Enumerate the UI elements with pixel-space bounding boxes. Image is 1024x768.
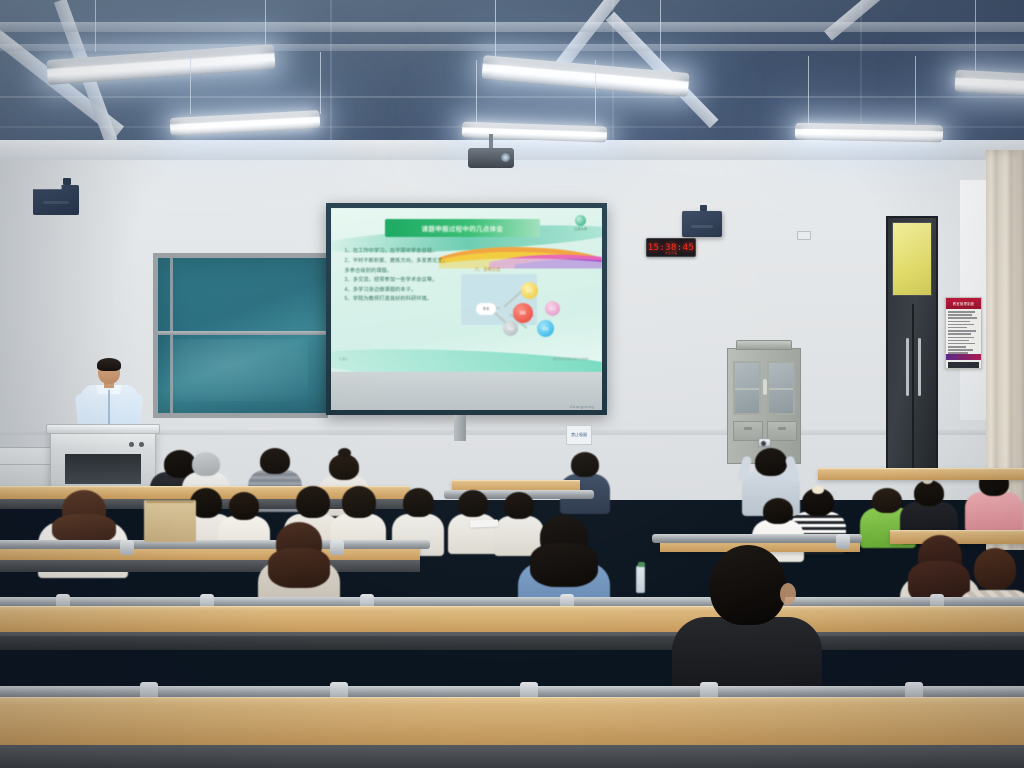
podium-control-knob[interactable] — [129, 442, 134, 447]
podium-control-knob[interactable] — [139, 442, 144, 447]
slide-body-text: 1、在工作中学习，在平常中学会总结， 2、平时不断积累、磨炼方向，多发表论文， … — [345, 247, 459, 305]
water-bottle — [636, 565, 645, 593]
notice-board-title: 教室管理制度 — [953, 301, 975, 306]
desk-row-4 — [0, 697, 1024, 745]
slide-content: 课题申报过程中的几点体会 江苏大学 1、在工作中学习，在平常中学会总结， 2 — [331, 208, 602, 372]
desk-front-panel — [0, 560, 420, 572]
desk-rail-clip — [120, 540, 134, 555]
diagram-node-center-red: 课题 — [513, 303, 533, 323]
notice-board: 教室管理制度 — [945, 297, 982, 369]
slide-title-banner: 课题申报过程中的几点体会 — [385, 219, 539, 237]
diagram-node-pink: 论文 — [545, 301, 560, 316]
wall-sign: 禁止吸烟 — [566, 425, 592, 445]
notice-board-accent — [946, 354, 981, 360]
notice-board-plate — [948, 362, 979, 368]
desk-front-panel-row4 — [0, 745, 1024, 768]
node-label: 项目 — [542, 326, 548, 331]
slide-bullet: 4、多学习身边做课题的本子。 — [345, 286, 459, 296]
slide-footer: 汇报人 课题申报过程中的几点体会 — [331, 357, 602, 367]
slide-footer-right: 课题申报过程中的几点体会 — [552, 357, 588, 361]
ceiling-beam-horizontal — [0, 22, 1024, 32]
door-handle-right[interactable] — [918, 338, 921, 396]
node-label: 课题 — [519, 310, 525, 315]
cabinet-glass-door-left[interactable] — [733, 361, 761, 415]
diagram-node-blue: 项目 — [537, 320, 554, 337]
led-clock-subtext: 欢迎光临 — [647, 251, 695, 255]
handout-paper — [470, 520, 498, 528]
cabinet-drawer-right[interactable] — [767, 421, 797, 441]
ceiling-light-6 — [795, 123, 943, 143]
slide-logo-caption: 江苏大学 — [568, 227, 594, 231]
projector-lens-icon — [501, 153, 510, 162]
podium-surface — [46, 424, 160, 434]
projection-screen[interactable]: 课题申报过程中的几点体会 江苏大学 1、在工作中学习，在平常中学会总结， 2 — [326, 203, 607, 415]
diagram-node-yellow: 交流 — [521, 282, 538, 299]
blackboard — [153, 253, 328, 418]
screen-brand-label: Changhong — [570, 404, 594, 409]
slide-bullet: 5、学院为教师打造良好的科研环境。 — [345, 295, 459, 305]
slide-bullet: 3、多交流，经常参加一些学术会议等。 — [345, 276, 459, 286]
speaker-left — [33, 185, 79, 215]
classroom-scene: 课题申报过程中的几点体会 江苏大学 1、在工作中学习，在平常中学会总结， 2 — [0, 0, 1024, 768]
projector — [468, 148, 514, 168]
slide-bullet: 多参合级别的课题。 — [345, 267, 459, 277]
attendee-black-tshirt-big — [672, 545, 822, 695]
node-label: 交流 — [526, 288, 532, 293]
screen-stand — [454, 415, 466, 441]
podium-equipment-bay — [65, 454, 141, 484]
desk-rail-row2-right — [652, 534, 862, 543]
node-label: 平台 — [507, 326, 513, 331]
desk-row-3 — [0, 606, 1024, 632]
cabinet-handle[interactable] — [763, 379, 767, 395]
slide-node-diagram: 六、多种方式 交流 论文 课题 项目 — [458, 264, 594, 349]
logo-circle-icon — [575, 215, 586, 226]
wall-sign-text: 禁止吸烟 — [571, 433, 587, 437]
desk-leg-panel — [0, 636, 1024, 650]
diagram-node-gray: 平台 — [503, 321, 518, 336]
classroom-door[interactable] — [886, 216, 938, 476]
desk-row-far-right2 — [818, 468, 1024, 480]
diagram-node-center-label: 学术 — [476, 303, 496, 315]
teaching-podium[interactable] — [50, 429, 156, 492]
slide-logo: 江苏大学 — [568, 215, 594, 231]
diagram-caption: 六、多种方式 — [475, 267, 501, 273]
desk-rail-clip — [836, 534, 850, 549]
node-label: 论文 — [549, 306, 555, 311]
presenter-hair — [97, 358, 121, 371]
cabinet-glass-door-right[interactable] — [767, 361, 795, 415]
emergency-light — [797, 231, 811, 240]
led-clock: 15:38:45 欢迎光临 — [646, 238, 696, 257]
slide-bullet: 2、平时不断积累、磨炼方向，多发表论文， — [345, 257, 459, 267]
door-glass-panel — [892, 222, 932, 296]
speaker-bracket — [63, 178, 71, 185]
notice-board-header: 教室管理制度 — [946, 298, 981, 309]
smartphone — [758, 438, 771, 447]
paper-bag — [144, 500, 196, 542]
screen-lower-panel — [331, 372, 602, 410]
speaker-right — [682, 211, 722, 237]
cabinet-top-box — [736, 340, 792, 350]
ceiling-beam-horizontal — [0, 44, 1024, 51]
slide-bullet: 1、在工作中学习，在平常中学会总结， — [345, 247, 459, 257]
desk-rail-row2 — [0, 540, 430, 549]
notice-board-body — [946, 309, 981, 358]
projector-mount — [489, 134, 493, 148]
slide-footer-left: 汇报人 — [339, 357, 348, 361]
node-label: 学术 — [483, 306, 489, 311]
slide-title: 课题申报过程中的几点体会 — [422, 223, 504, 233]
door-handle-left[interactable] — [906, 338, 909, 396]
